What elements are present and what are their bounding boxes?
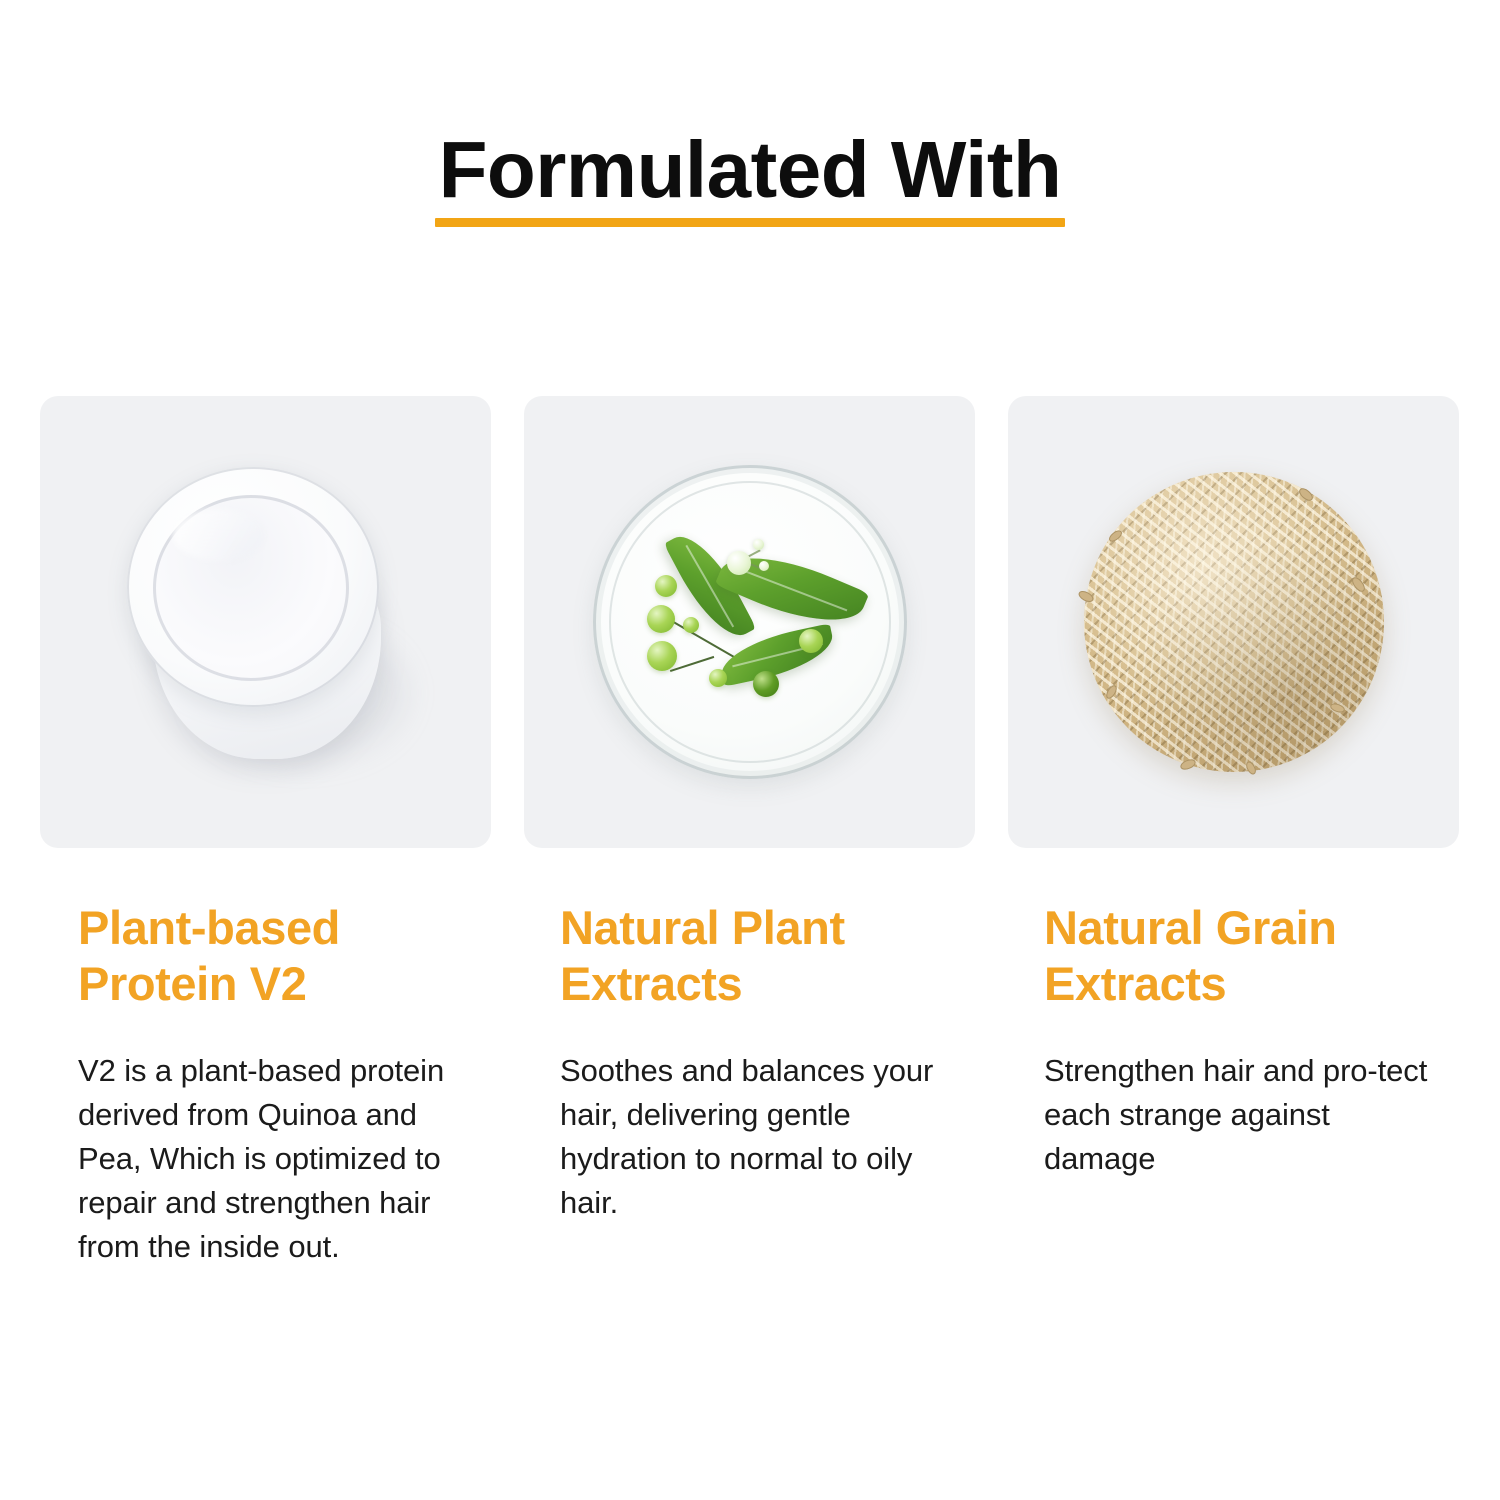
green-droplet xyxy=(683,617,699,633)
molecule-icon xyxy=(725,539,771,579)
page-title: Formulated With xyxy=(435,128,1066,211)
ingredient-description: Soothes and balances your hair, deliveri… xyxy=(560,1049,965,1225)
green-droplet xyxy=(647,641,677,671)
petri-dish-illustration xyxy=(585,457,915,787)
clear-gel-jar-image xyxy=(40,396,491,848)
ingredient-heading: Natural Grain Extracts xyxy=(1044,900,1449,1013)
jar-illustration xyxy=(101,457,431,787)
caption-block: Natural Plant Extracts Soothes and balan… xyxy=(524,900,975,1225)
dark-green-droplet xyxy=(753,671,779,697)
ingredient-heading: Natural Plant Extracts xyxy=(560,900,965,1013)
ingredient-description: V2 is a plant-based protein derived from… xyxy=(78,1049,481,1269)
caption-block: Plant-based Protein V2 V2 is a plant-bas… xyxy=(40,900,491,1269)
formulated-with-infographic: Formulated With Plant-based Protein V2 V… xyxy=(0,0,1500,1500)
ingredient-column-natural-grain-extracts: Natural Grain Extracts Strengthen hair a… xyxy=(1008,396,1459,1269)
green-droplet xyxy=(799,629,823,653)
ingredient-heading: Plant-based Protein V2 xyxy=(78,900,481,1013)
grain-illustration xyxy=(1084,472,1384,772)
title-underline-rule xyxy=(435,218,1066,227)
molecule-node xyxy=(759,561,769,571)
green-droplet xyxy=(647,605,675,633)
ingredient-columns: Plant-based Protein V2 V2 is a plant-bas… xyxy=(40,396,1460,1269)
green-droplet xyxy=(709,669,727,687)
green-droplet xyxy=(655,575,677,597)
ingredient-column-natural-plant-extracts: Natural Plant Extracts Soothes and balan… xyxy=(524,396,975,1269)
page-title-block: Formulated With xyxy=(0,128,1500,233)
title-inner: Formulated With xyxy=(435,128,1066,233)
jar-highlight xyxy=(173,509,265,561)
ingredient-column-plant-based-protein: Plant-based Protein V2 V2 is a plant-bas… xyxy=(40,396,491,1269)
grain-pile xyxy=(1084,472,1384,772)
ingredient-description: Strengthen hair and pro-tect each strang… xyxy=(1044,1049,1449,1181)
molecule-node xyxy=(753,539,764,550)
molecule-node xyxy=(727,551,751,575)
caption-block: Natural Grain Extracts Strengthen hair a… xyxy=(1008,900,1459,1181)
wheat-grain-pile-image xyxy=(1008,396,1459,848)
petri-dish-green-leaves-image xyxy=(524,396,975,848)
